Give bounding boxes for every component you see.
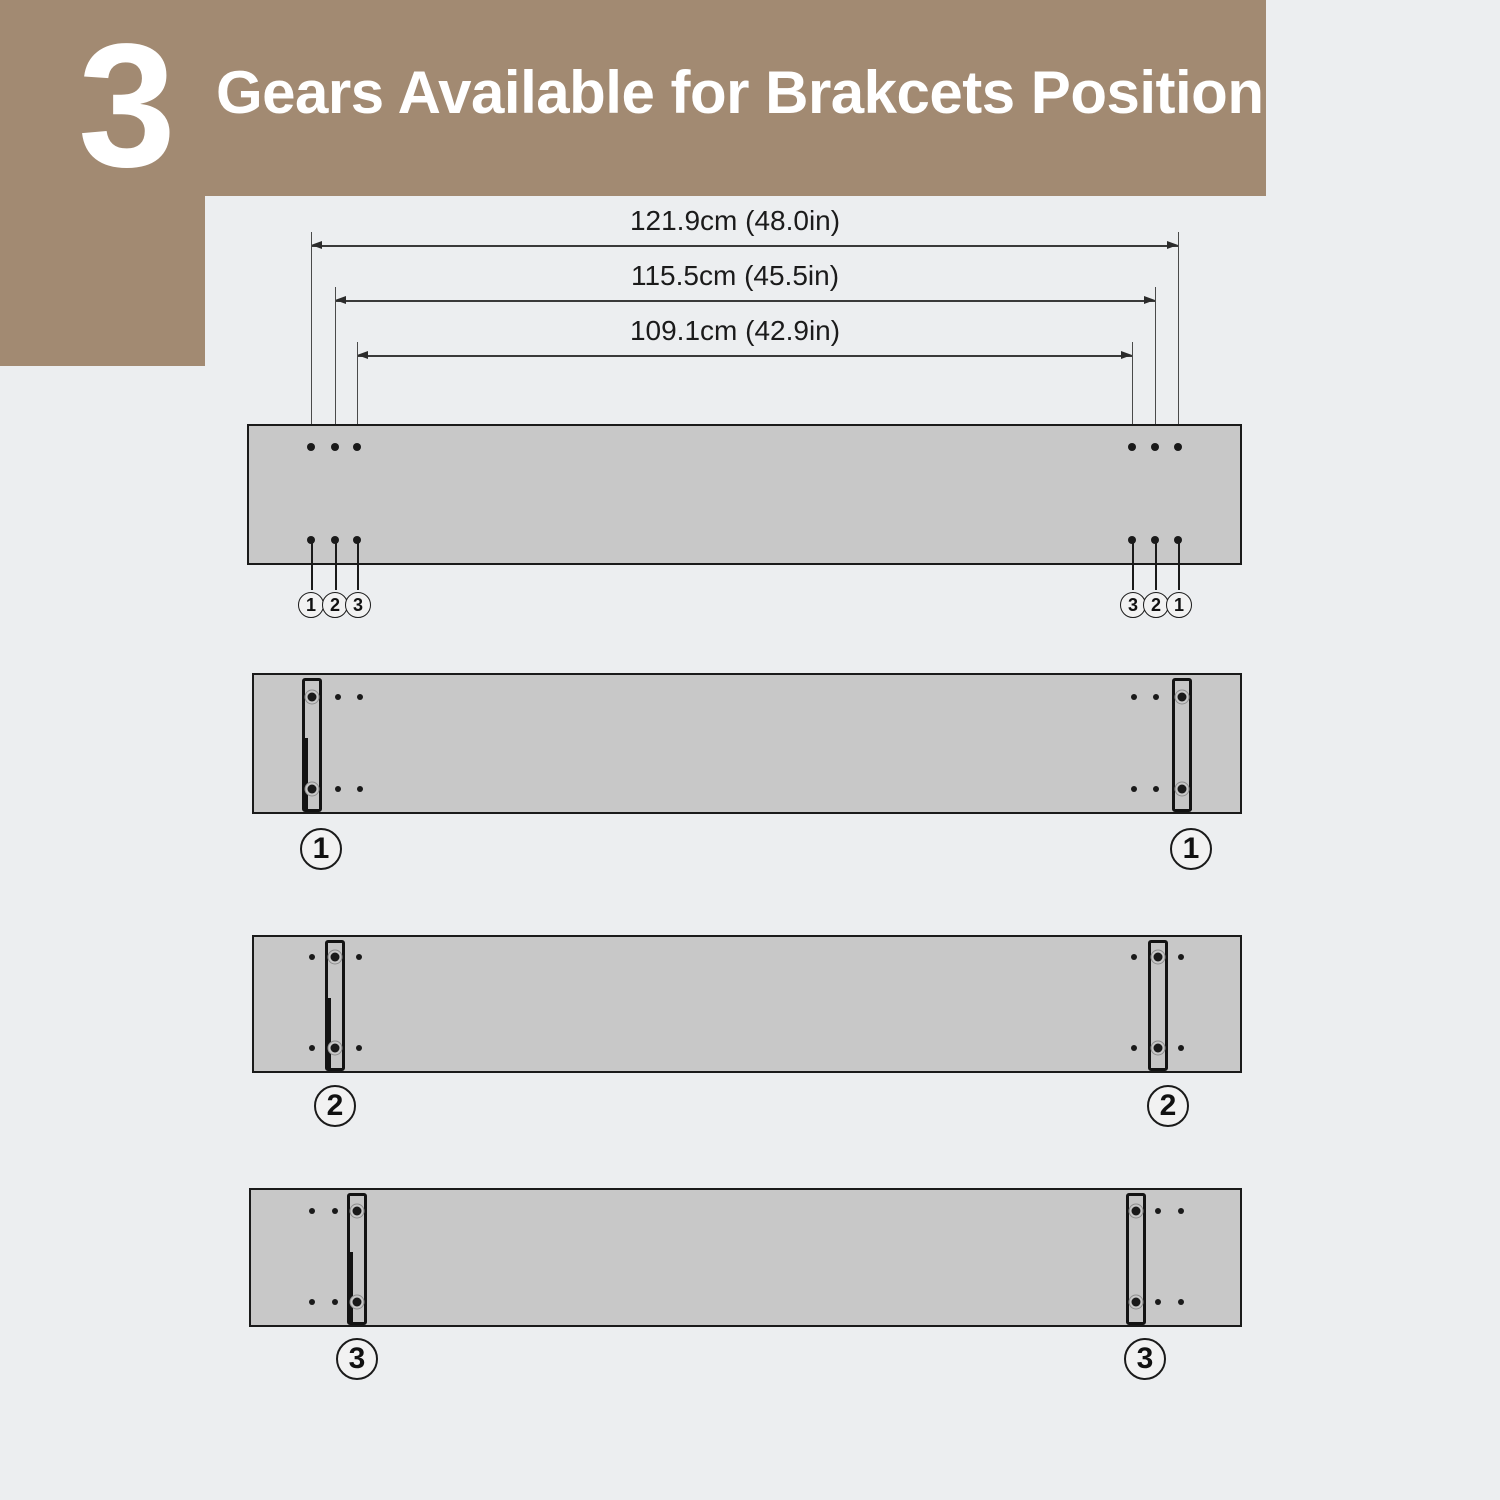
callout-gear-1-right: 1 xyxy=(1170,828,1212,870)
hole-top-right-1 xyxy=(1174,443,1182,451)
dimension-arrow-left-1 xyxy=(311,241,322,249)
spare-hole-left-d-gear-3 xyxy=(332,1299,338,1305)
bracket-seam-right-gear-2 xyxy=(1165,998,1168,1068)
spare-hole-left-c-gear-2 xyxy=(309,1045,315,1051)
dimension-arrow-right-1 xyxy=(1167,241,1178,249)
spare-hole-left-d-gear-2 xyxy=(356,1045,362,1051)
extension-line-right-2 xyxy=(1155,287,1156,447)
hole-top-left-3 xyxy=(353,443,361,451)
callout-overview-left-3: 3 xyxy=(345,592,371,618)
spare-hole-right-a-gear-1 xyxy=(1153,694,1159,700)
spare-hole-right-b-gear-2 xyxy=(1131,954,1137,960)
hole-top-left-2 xyxy=(331,443,339,451)
dimension-line-2 xyxy=(335,300,1155,302)
board-overview xyxy=(247,424,1242,565)
hole-top-right-2 xyxy=(1151,443,1159,451)
hole-top-right-3 xyxy=(1128,443,1136,451)
dimension-arrow-right-3 xyxy=(1121,351,1132,359)
spare-hole-left-d-gear-1 xyxy=(357,786,363,792)
bracket-hole-top-left-gear-1 xyxy=(308,693,317,702)
spare-hole-right-c-gear-2 xyxy=(1178,1045,1184,1051)
dimension-line-3 xyxy=(357,355,1132,357)
spare-hole-left-a-gear-2 xyxy=(309,954,315,960)
dimension-arrow-left-3 xyxy=(357,351,368,359)
dimension-label-1: 121.9cm (48.0in) xyxy=(630,205,840,237)
callout-gear-2-right: 2 xyxy=(1147,1085,1189,1127)
spare-hole-left-b-gear-2 xyxy=(356,954,362,960)
bracket-hole-bottom-right-gear-1 xyxy=(1178,785,1187,794)
spare-hole-left-a-gear-3 xyxy=(309,1208,315,1214)
leader-line-right-1 xyxy=(1178,540,1180,590)
bracket-hole-top-left-gear-3 xyxy=(353,1207,362,1216)
board-gear-2 xyxy=(252,935,1242,1073)
bracket-hole-top-left-gear-2 xyxy=(331,953,340,962)
spare-hole-left-c-gear-3 xyxy=(309,1299,315,1305)
spare-hole-left-a-gear-1 xyxy=(335,694,341,700)
leader-line-left-1 xyxy=(311,540,313,590)
dimension-label-2: 115.5cm (45.5in) xyxy=(631,260,839,292)
spare-hole-right-a-gear-3 xyxy=(1178,1208,1184,1214)
spare-hole-right-d-gear-3 xyxy=(1155,1299,1161,1305)
leader-line-right-3 xyxy=(1132,540,1134,590)
spare-hole-left-b-gear-1 xyxy=(357,694,363,700)
callout-overview-left-1: 1 xyxy=(298,592,324,618)
spare-hole-left-c-gear-1 xyxy=(335,786,341,792)
bracket-hole-top-right-gear-2 xyxy=(1154,953,1163,962)
leader-line-left-2 xyxy=(335,540,337,590)
spare-hole-right-d-gear-2 xyxy=(1131,1045,1137,1051)
bracket-hole-bottom-left-gear-3 xyxy=(353,1298,362,1307)
bracket-seam-left-gear-2 xyxy=(328,998,331,1068)
leader-line-left-3 xyxy=(357,540,359,590)
bracket-hole-bottom-left-gear-1 xyxy=(308,785,317,794)
callout-gear-2-left: 2 xyxy=(314,1085,356,1127)
leader-line-right-2 xyxy=(1155,540,1157,590)
diagram-canvas: 121.9cm (48.0in) 115.5cm (45.5in) 109.1c… xyxy=(0,0,1500,1500)
callout-gear-3-right: 3 xyxy=(1124,1338,1166,1380)
extension-line-left-1 xyxy=(311,232,312,447)
spare-hole-right-c-gear-3 xyxy=(1178,1299,1184,1305)
dimension-label-3: 109.1cm (42.9in) xyxy=(630,315,840,347)
spare-hole-left-b-gear-3 xyxy=(332,1208,338,1214)
bracket-seam-left-gear-3 xyxy=(350,1252,353,1322)
bracket-hole-bottom-left-gear-2 xyxy=(331,1044,340,1053)
page-title: Gears Available for Brakcets Position xyxy=(216,58,1263,128)
bracket-hole-bottom-right-gear-3 xyxy=(1132,1298,1141,1307)
extension-line-left-2 xyxy=(335,287,336,447)
dimension-line-1 xyxy=(311,245,1178,247)
spare-hole-right-c-gear-1 xyxy=(1153,786,1159,792)
step-number: 3 xyxy=(78,18,174,194)
callout-gear-1-left: 1 xyxy=(300,828,342,870)
dimension-arrow-left-2 xyxy=(335,296,346,304)
bracket-seam-right-gear-3 xyxy=(1143,1252,1146,1322)
callout-overview-right-1: 1 xyxy=(1166,592,1192,618)
spare-hole-right-b-gear-3 xyxy=(1155,1208,1161,1214)
dimension-arrow-right-2 xyxy=(1144,296,1155,304)
extension-line-right-1 xyxy=(1178,232,1179,447)
bracket-seam-right-gear-1 xyxy=(1189,738,1192,810)
spare-hole-right-a-gear-2 xyxy=(1178,954,1184,960)
spare-hole-right-d-gear-1 xyxy=(1131,786,1137,792)
hole-top-left-1 xyxy=(307,443,315,451)
bracket-seam-left-gear-1 xyxy=(305,738,308,810)
spare-hole-right-b-gear-1 xyxy=(1131,694,1137,700)
bracket-hole-top-right-gear-3 xyxy=(1132,1207,1141,1216)
bracket-hole-bottom-right-gear-2 xyxy=(1154,1044,1163,1053)
callout-gear-3-left: 3 xyxy=(336,1338,378,1380)
board-gear-1 xyxy=(252,673,1242,814)
bracket-hole-top-right-gear-1 xyxy=(1178,693,1187,702)
board-gear-3 xyxy=(249,1188,1242,1327)
